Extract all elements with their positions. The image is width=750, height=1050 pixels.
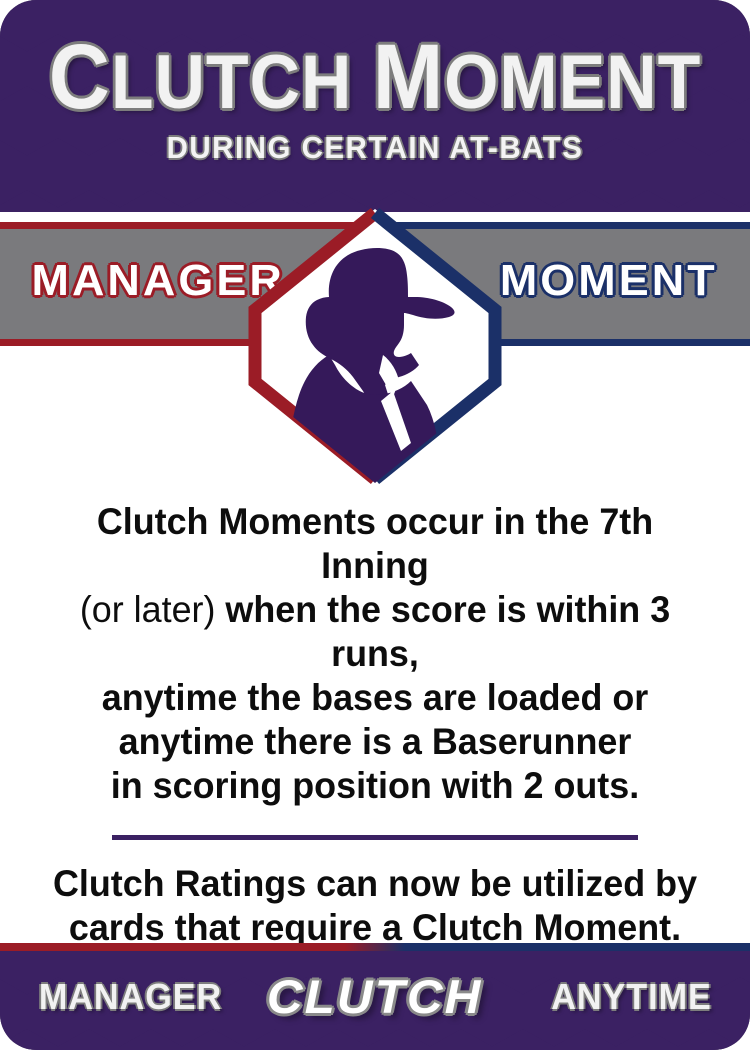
footer-label-anytime: ANYTIME xyxy=(551,976,712,1018)
header-title-group: CLUTCH MOMENT DURING CERTAIN AT-BATS xyxy=(0,36,750,166)
section-divider xyxy=(112,835,638,840)
page-title: CLUTCH MOMENT xyxy=(30,36,720,124)
manager-badge xyxy=(243,205,507,487)
rule-line-2-light: (or later) xyxy=(80,589,216,630)
card-body: Clutch Moments occur in the 7th Inning (… xyxy=(0,500,750,950)
manager-silhouette-icon xyxy=(243,205,507,487)
band-label-moment: MOMENT xyxy=(500,256,718,306)
rule-line-3: anytime the bases are loaded or xyxy=(46,676,704,720)
card-footer: MANAGER CLUTCH ANYTIME xyxy=(0,943,750,1050)
note-line-1: Clutch Ratings can now be utilized by xyxy=(46,862,704,906)
card-subtitle: DURING CERTAIN AT-BATS xyxy=(19,130,732,166)
clutch-moment-card: CLUTCH MOMENT DURING CERTAIN AT-BATS MAN… xyxy=(0,0,750,1050)
rule-line-1: Clutch Moments occur in the 7th Inning xyxy=(46,500,704,588)
rule-line-2-bold: when the score is within 3 runs, xyxy=(215,589,670,674)
footer-logo-text: CLUTCH xyxy=(267,969,482,1024)
rule-text-block: Clutch Moments occur in the 7th Inning (… xyxy=(46,500,704,808)
card-header: CLUTCH MOMENT DURING CERTAIN AT-BATS xyxy=(0,0,750,212)
rule-line-5: in scoring position with 2 outs. xyxy=(46,764,704,808)
footer-top-border xyxy=(0,943,750,951)
rule-line-2: (or later) when the score is within 3 ru… xyxy=(46,588,704,676)
note-text-block: Clutch Ratings can now be utilized by ca… xyxy=(46,862,704,950)
rule-line-4: anytime there is a Baserunner xyxy=(46,720,704,764)
